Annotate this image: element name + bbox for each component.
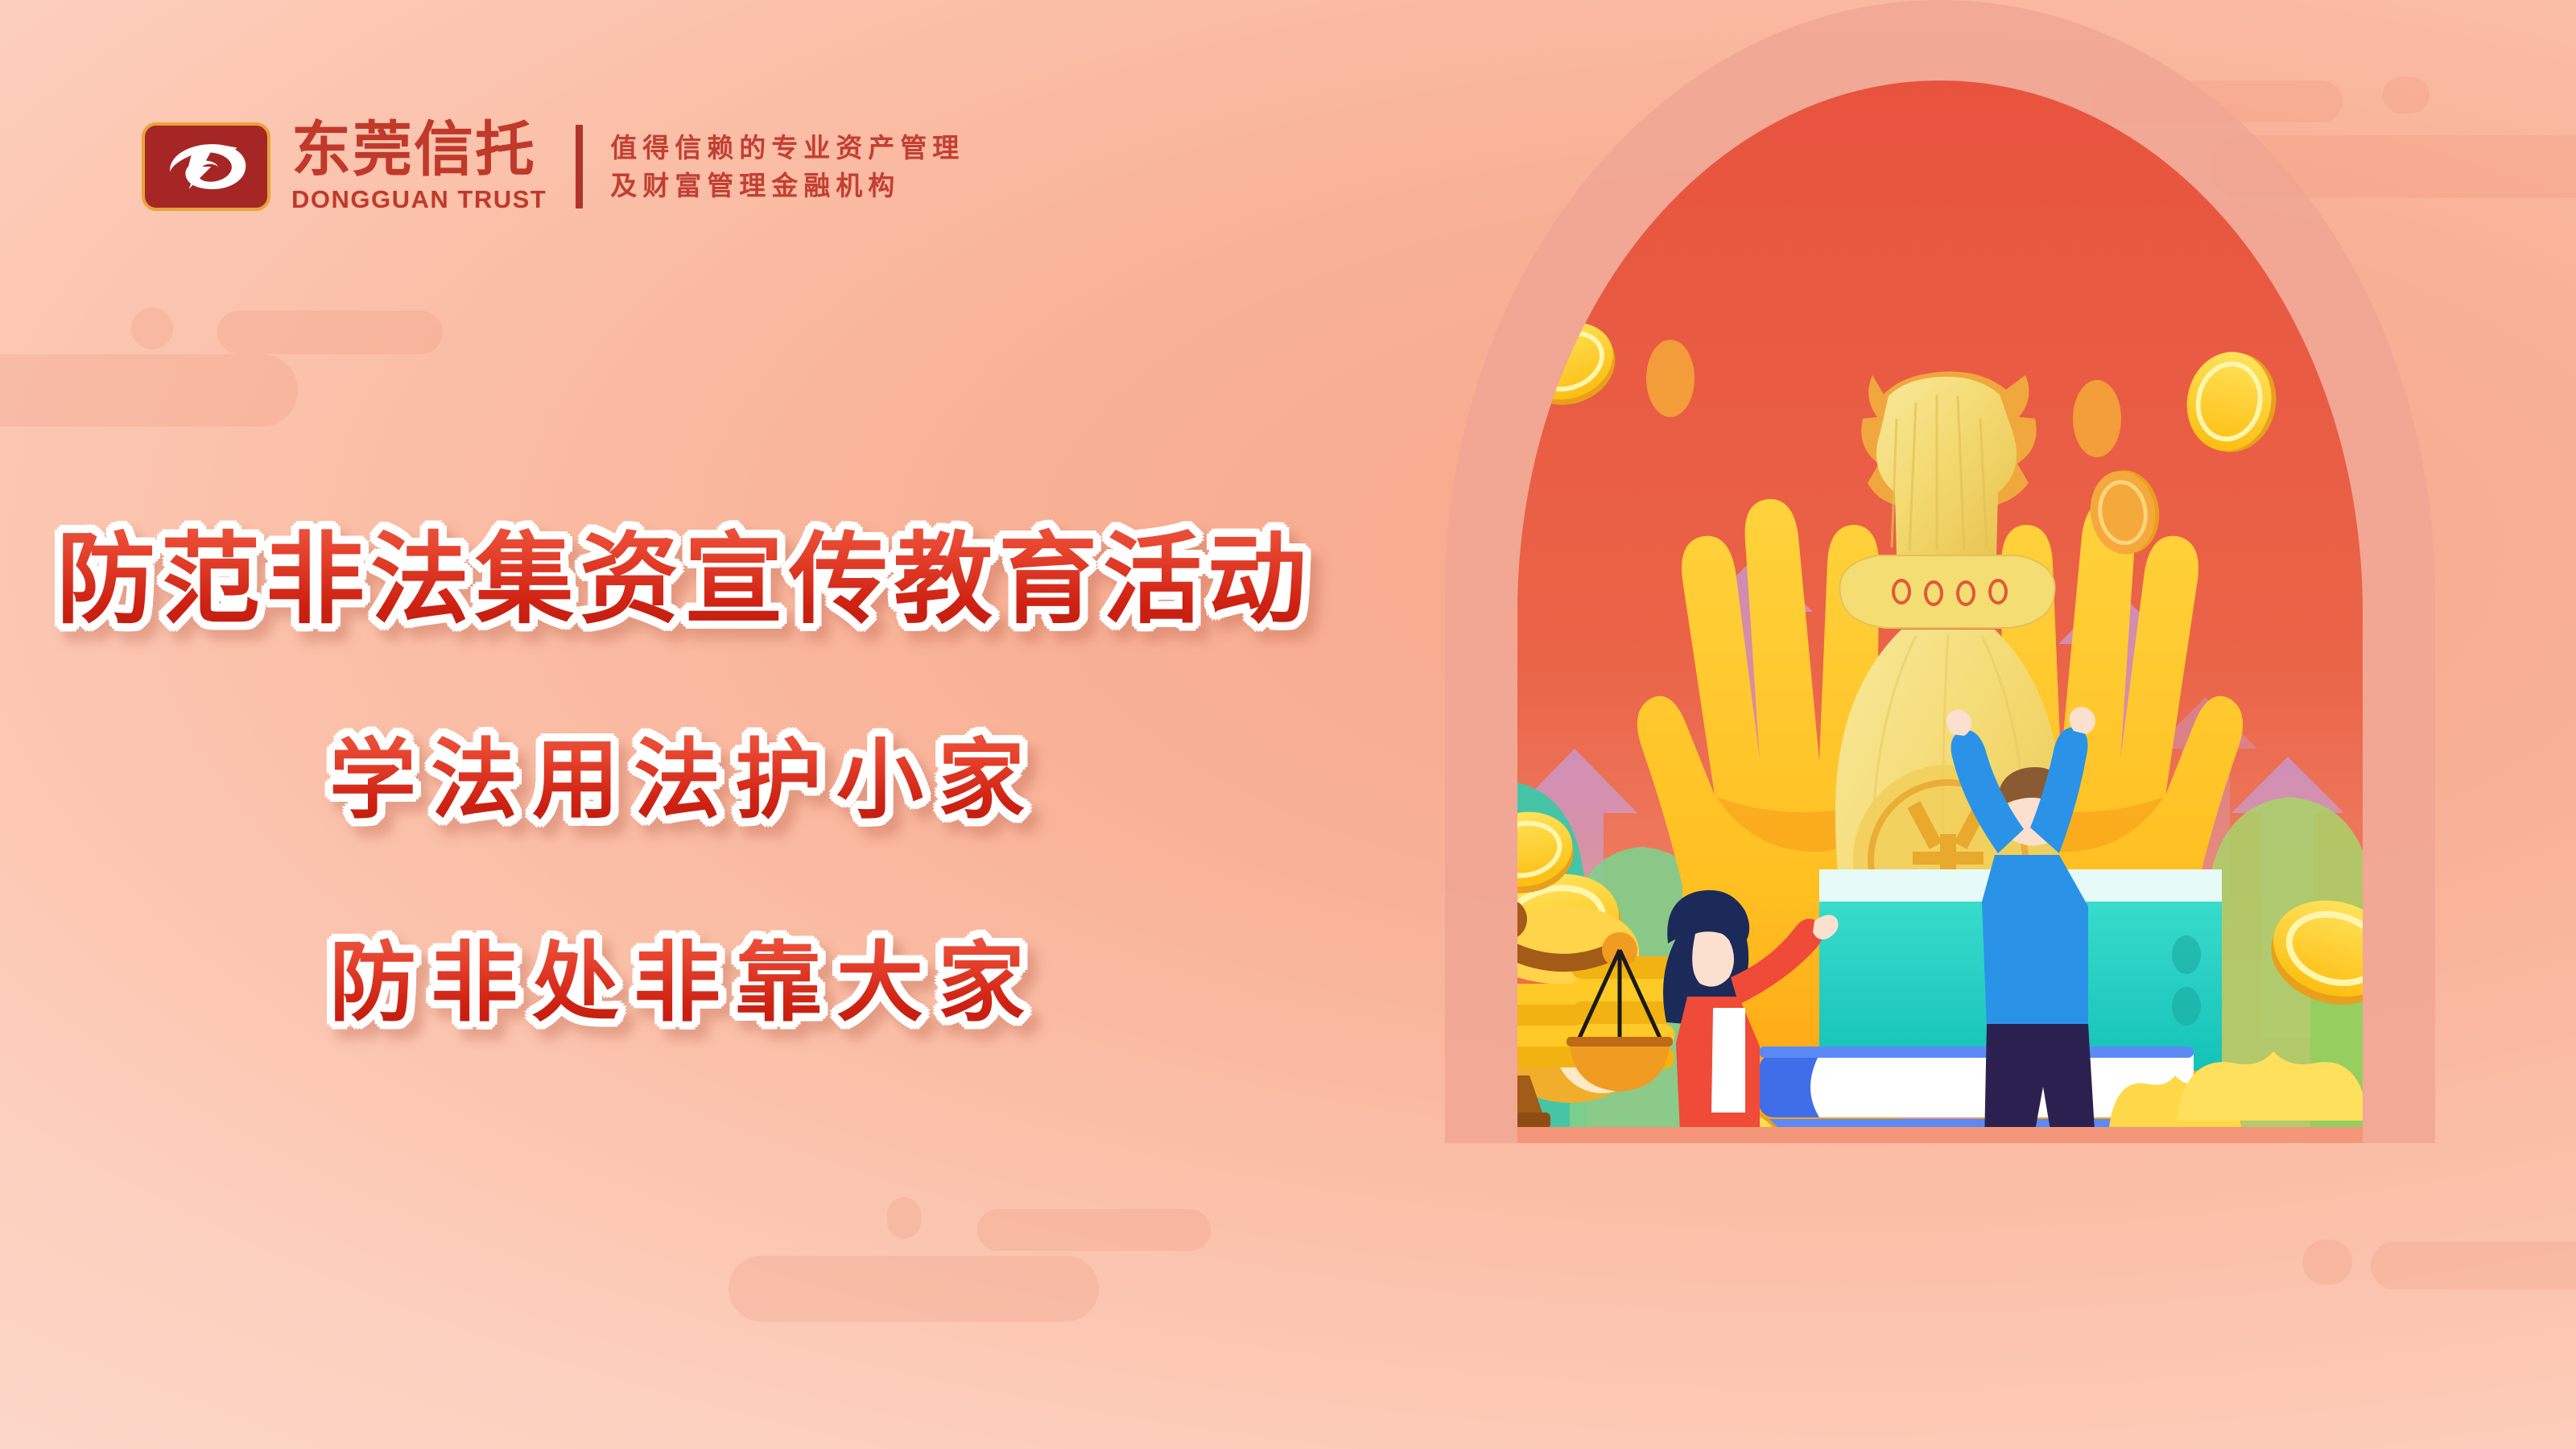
- deco-dot-bottom-mid: [887, 1197, 921, 1239]
- logo-divider: [576, 125, 583, 208]
- deco-pill-bottom-1: [977, 1209, 1211, 1251]
- brand-tagline: 值得信赖的专业资产管理 及财富管理金融机构: [610, 134, 964, 199]
- brand-logo-lockup: 东莞信托 DONGGUAN TRUST 值得信赖的专业资产管理 及财富管理金融机…: [142, 121, 964, 213]
- illustration-anti-illegal-fundraising: [1304, 0, 2576, 1256]
- ground-strip: [1594, 1170, 2190, 1240]
- deco-pill-left-mid: [0, 354, 298, 427]
- deco-dot-left-upper: [131, 308, 173, 349]
- brand-name-cn: 东莞信托: [291, 121, 547, 180]
- headline-line-2: 学法用法护小家: [329, 710, 1039, 836]
- brand-wordmark: 东莞信托 DONGGUAN TRUST: [291, 121, 547, 213]
- brand-tagline-line-1: 值得信赖的专业资产管理: [610, 134, 964, 161]
- headline-line-3: 防非处非靠大家: [329, 913, 1039, 1038]
- headline-block: 防范非法集资宣传教育活动 学法用法护小家 防非处非靠大家: [0, 499, 1368, 1038]
- poster-canvas: 东莞信托 DONGGUAN TRUST 值得信赖的专业资产管理 及财富管理金融机…: [0, 0, 2576, 1449]
- deco-pill-bottom-2: [729, 1256, 1099, 1322]
- dongguan-trust-swirl-logo-icon: [142, 122, 270, 211]
- brand-name-en: DONGGUAN TRUST: [291, 186, 547, 213]
- deco-pill-left-upper: [217, 311, 443, 354]
- brand-tagline-line-2: 及财富管理金融机构: [610, 172, 964, 199]
- headline-line-1: 防范非法集资宣传教育活动: [56, 499, 1312, 642]
